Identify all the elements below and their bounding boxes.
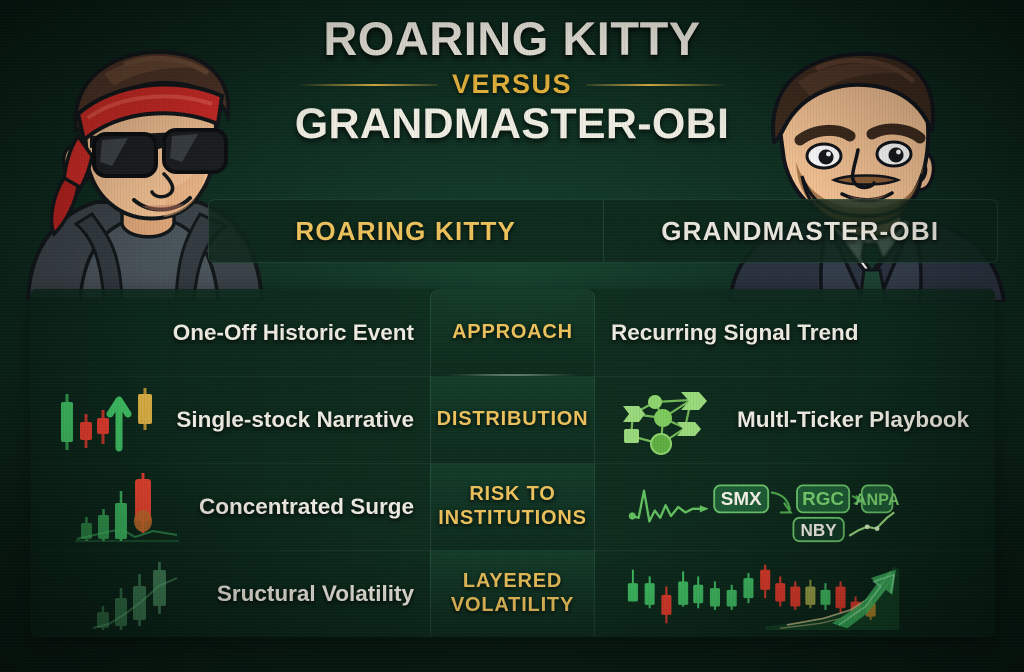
row-middle-label-line1: LAYERED	[463, 570, 562, 592]
row-middle-label-line2: VOLATILITY	[451, 594, 574, 616]
row-right-label: Multl-Ticker Playbook	[737, 407, 969, 433]
row-middle-label-line1: RISK TO	[469, 483, 555, 505]
table-row: Single-stock Narrative DISTRIBUTION	[30, 376, 995, 463]
competitor-name-right: GRANDMASTER-OBI	[661, 216, 939, 247]
page-subtitle: GRANDMASTER-OBI	[0, 102, 1024, 147]
row-middle-label: DISTRIBUTION	[437, 408, 589, 431]
row-middle-label: APPROACH	[452, 321, 573, 344]
svg-text:SMX: SMX	[721, 489, 762, 510]
ticker-badge-rgc: RGC	[797, 485, 849, 512]
title-block: ROARING KITTY VERSUS GRANDMASTER-OBI	[0, 14, 1024, 147]
row-middle-label: RISK TO INSTITUTIONS	[438, 483, 587, 529]
row-left-cell: Concentrated Surge	[30, 463, 430, 550]
candlestick-rally-chart-icon	[611, 558, 911, 630]
row-left-label: One-Off Historic Event	[173, 320, 414, 346]
competitor-name-left: ROARING KITTY	[295, 216, 516, 247]
versus-label: VERSUS	[452, 69, 572, 100]
infographic-canvas: ROARING KITTY VERSUS GRANDMASTER-OBI ROA…	[0, 0, 1024, 672]
ticker-flow-icon: SMX RGC ANPA	[611, 471, 911, 543]
row-left-label: Sructural Volatility	[217, 581, 414, 607]
versus-rule-right	[586, 84, 727, 86]
row-right-cell: Multl-Ticker Playbook	[595, 376, 995, 463]
competitor-name-row: ROARING KITTY GRANDMASTER-OBI	[208, 199, 998, 263]
svg-text:RGC: RGC	[802, 489, 844, 510]
svg-text:ANPA: ANPA	[855, 491, 900, 509]
versus-rule-left	[297, 84, 438, 86]
row-right-label: Recurring Signal Trend	[611, 320, 859, 346]
row-left-label: Single-stock Narrative	[176, 407, 414, 433]
row-middle-cell: RISK TO INSTITUTIONS	[430, 463, 595, 550]
candlestick-staircase-icon	[91, 558, 203, 630]
row-middle-label: LAYERED VOLATILITY	[451, 570, 574, 616]
candlestick-spike-icon	[73, 471, 185, 543]
candlestick-uptrend-icon	[50, 384, 162, 456]
row-middle-label-line2: INSTITUTIONS	[438, 507, 587, 529]
row-right-cell	[595, 550, 995, 637]
ticker-badge-smx: SMX	[714, 485, 768, 512]
versus-divider: VERSUS	[297, 69, 727, 100]
competitor-header-left: ROARING KITTY	[208, 199, 603, 263]
table-row: One-Off Historic Event APPROACH Recurrin…	[30, 289, 995, 376]
ticker-badge-anpa: ANPA	[855, 485, 900, 512]
network-graph-icon	[611, 384, 723, 456]
svg-text:NBY: NBY	[801, 520, 838, 539]
row-middle-cell: DISTRIBUTION	[430, 376, 595, 463]
ticker-badge-nby: NBY	[793, 517, 843, 540]
row-right-cell: Recurring Signal Trend	[595, 289, 995, 376]
row-left-cell: Single-stock Narrative	[30, 376, 430, 463]
row-middle-cell: LAYERED VOLATILITY	[430, 550, 595, 637]
table-row: Concentrated Surge RISK TO INSTITUTIONS	[30, 463, 995, 550]
row-left-label: Concentrated Surge	[199, 494, 414, 520]
row-right-cell: SMX RGC ANPA	[595, 463, 995, 550]
row-left-cell: One-Off Historic Event	[30, 289, 430, 376]
row-left-cell: Sructural Volatility	[30, 550, 430, 637]
page-title: ROARING KITTY	[0, 14, 1024, 63]
row-middle-cell: APPROACH	[430, 289, 595, 376]
competitor-header-right: GRANDMASTER-OBI	[603, 199, 999, 263]
comparison-table: One-Off Historic Event APPROACH Recurrin…	[30, 289, 995, 637]
table-row: Sructural Volatility LAYERED VOLATILITY	[30, 550, 995, 637]
